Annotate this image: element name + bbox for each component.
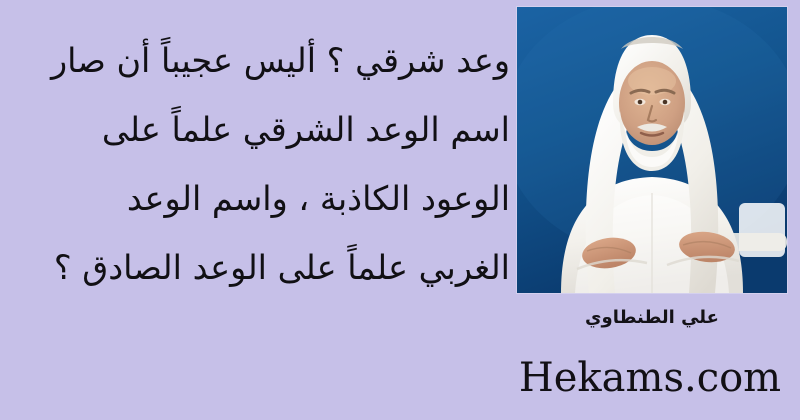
quote-line-1: وعد شرقي ؟ أليس عجيباً أن صار [0,26,510,95]
portrait-illustration [517,7,787,293]
author-attribution: علي الطنطاوي [517,306,787,330]
portrait-photo [517,7,787,293]
quote-line-4: الغربي علماً على الوعد الصادق ؟ [0,233,510,302]
quote-line-3: الوعود الكاذبة ، واسم الوعد [0,164,510,233]
site-branding: Hekams.com [500,355,800,401]
quote-line-2: اسم الوعد الشرقي علماً على [0,95,510,164]
quote-card: وعد شرقي ؟ أليس عجيباً أن صار اسم الوعد … [0,0,800,420]
quote-text-block: وعد شرقي ؟ أليس عجيباً أن صار اسم الوعد … [0,26,510,302]
